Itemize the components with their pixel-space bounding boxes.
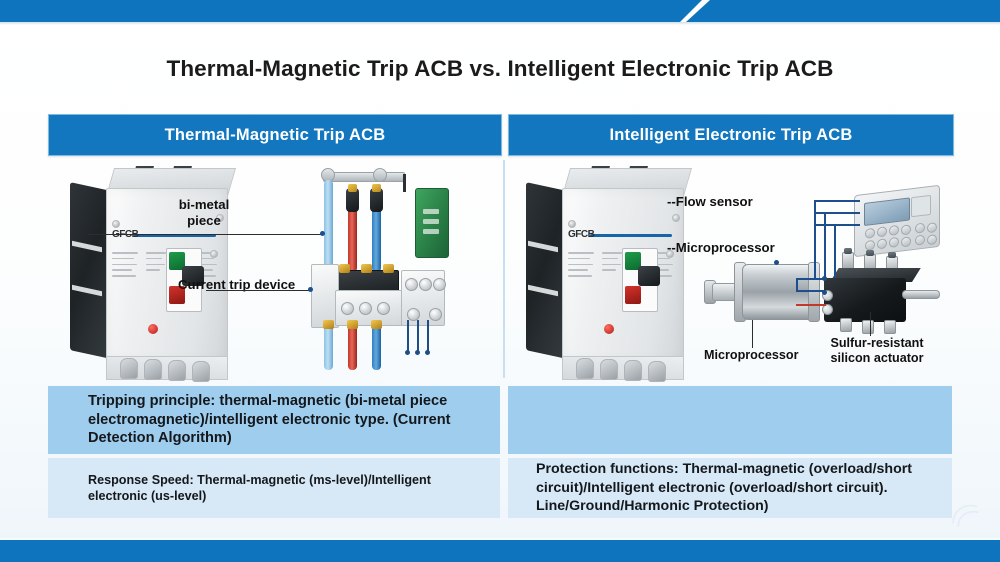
leader-line-bi-metal [88, 234, 324, 235]
breaker-handle[interactable] [638, 266, 660, 286]
column-divider [503, 160, 505, 378]
wire-terminal-dot [822, 276, 827, 281]
controller-key[interactable] [889, 237, 899, 248]
cable-lug [347, 320, 358, 329]
rating-label-left [112, 252, 140, 281]
leader-line-current-trip [206, 290, 312, 291]
info-box-tripping-principle: Tripping principle: thermal-magnetic (bi… [48, 386, 500, 454]
terminal-hole [359, 302, 372, 315]
cable-out-3 [372, 324, 381, 370]
column-header-label: Intelligent Electronic Trip ACB [609, 126, 852, 145]
trip-button[interactable] [604, 324, 614, 334]
cylinder-body [742, 264, 816, 320]
controller-display-unit[interactable] [854, 185, 940, 258]
controller-key[interactable] [927, 234, 937, 245]
aux-pin-dot [415, 350, 420, 355]
terminal-hole [377, 302, 390, 315]
aux-pin [427, 320, 429, 352]
breaker-side-panel [70, 182, 106, 358]
rating-label-mid [602, 252, 624, 275]
busbar-pivot [373, 168, 387, 182]
callout-flow-sensor: --Flow sensor [667, 194, 753, 210]
breaker-screw [568, 220, 576, 228]
rating-label-left [568, 252, 596, 281]
info-box-response-speed: Response Speed: Thermal-magnetic (ms-lev… [48, 458, 500, 518]
cable-phase-1 [324, 180, 333, 272]
terminal-boot [648, 361, 666, 382]
actuator-outlet [884, 320, 896, 334]
rating-label-mid [146, 252, 168, 275]
brand-stripe [590, 234, 672, 237]
terminal-boot [576, 358, 594, 379]
actuator-body [824, 278, 906, 322]
cable-lug [348, 184, 357, 192]
contact-clip [383, 264, 394, 273]
bottom-banner [0, 540, 1000, 562]
column-header-thermal-magnetic: Thermal-Magnetic Trip ACB [48, 114, 502, 156]
signal-wire [814, 224, 860, 226]
actuator-outlet [862, 320, 874, 334]
aux-pin-dot [425, 350, 430, 355]
leader-dot-current-trip [308, 287, 313, 292]
column-header-intelligent-electronic: Intelligent Electronic Trip ACB [508, 114, 954, 156]
switch-indicator-off [625, 286, 641, 304]
cable-phase-3 [372, 202, 381, 272]
breaker-screw [112, 220, 120, 228]
terminal-boot [168, 360, 186, 381]
page-title: Thermal-Magnetic Trip ACB vs. Intelligen… [0, 56, 1000, 82]
controller-key[interactable] [901, 236, 911, 247]
signal-wire-vertical [814, 200, 816, 278]
breaker-side-panel [526, 182, 562, 358]
breaker-screw [210, 250, 218, 258]
controller-key[interactable] [877, 238, 887, 249]
signal-wire-vertical [796, 278, 798, 290]
aux-pin [417, 320, 419, 352]
link-rod [403, 174, 406, 192]
signal-wire [814, 200, 860, 202]
info-box-text: Response Speed: Thermal-magnetic (ms-lev… [88, 472, 486, 505]
breaker-screw [672, 214, 680, 222]
cable-lug [371, 320, 382, 329]
controller-key[interactable] [877, 226, 887, 237]
controller-key[interactable] [901, 224, 911, 235]
brand-label: GFCB [568, 229, 594, 240]
controller-key[interactable] [927, 222, 937, 233]
leader-line-actuator [870, 312, 871, 336]
signal-wire-vertical [834, 224, 836, 278]
controller-key[interactable] [889, 225, 899, 236]
signal-wire [814, 212, 860, 214]
terminal-boot [600, 359, 618, 380]
cable-out-2 [348, 324, 357, 370]
info-box-protection-functions: Protection functions: Thermal-magnetic (… [508, 458, 952, 518]
cable-out-1 [324, 324, 333, 370]
contact-clip [361, 264, 372, 273]
column-header-label: Thermal-Magnetic Trip ACB [165, 126, 386, 145]
terminal-boot [624, 360, 642, 381]
terminal-hole [433, 278, 446, 291]
busbar-top [323, 172, 405, 182]
cable-phase-2 [348, 202, 357, 272]
controller-screen [864, 197, 910, 226]
pneumatic-cylinder [704, 260, 824, 330]
cable-lug [323, 320, 334, 329]
leader-dot-bi-metal [320, 231, 325, 236]
info-box-text: Tripping principle: thermal-magnetic (bi… [88, 392, 486, 449]
watermark-icon [948, 498, 982, 532]
callout-silicon-actuator: Sulfur-resistant silicon actuator [812, 336, 942, 366]
contact-clip [339, 264, 350, 273]
terminal-boot [144, 359, 162, 380]
terminal-hole [419, 278, 432, 291]
controller-key[interactable] [915, 223, 925, 234]
terminal-hole [341, 302, 354, 315]
green-relay-module [415, 188, 449, 258]
actuator-outlet [840, 318, 852, 332]
aux-pin [407, 320, 409, 352]
aux-pin-dot [405, 350, 410, 355]
controller-key[interactable] [865, 228, 875, 239]
signal-wire-vertical [824, 212, 826, 278]
callout-bi-metal-piece: bi-metal piece [144, 197, 264, 228]
terminal-hole [429, 308, 442, 321]
top-banner-accent [686, 0, 1000, 22]
leader-line-microprocessor [752, 320, 753, 348]
slide-canvas: Thermal-Magnetic Trip ACB vs. Intelligen… [0, 0, 1000, 562]
terminal-boot [120, 358, 138, 379]
callout-microprocessor-top: --Microprocessor [667, 240, 775, 256]
info-box-text: Protection functions: Thermal-magnetic (… [536, 460, 938, 515]
info-box-right-spacer [508, 386, 952, 454]
top-banner-shadow [0, 22, 1000, 25]
actuator-shaft [902, 290, 940, 299]
wire-terminal-dot [822, 290, 827, 295]
figure-intelligent-electronic: GFCB [508, 160, 952, 378]
controller-key[interactable] [915, 235, 925, 246]
trip-button[interactable] [148, 324, 158, 334]
callout-microprocessor-bottom: Microprocessor [704, 348, 798, 363]
cable-lug [372, 184, 381, 192]
power-wire [796, 304, 826, 306]
actuator-port [822, 304, 833, 315]
cylinder-port-dot [774, 260, 779, 265]
terminal-boot [192, 361, 210, 382]
internal-mechanism-assembly [303, 160, 483, 378]
controller-navpad[interactable] [911, 195, 931, 217]
terminal-hole [405, 278, 418, 291]
figure-thermal-magnetic: GFCB [48, 160, 500, 378]
silicon-actuator-block [824, 252, 964, 332]
